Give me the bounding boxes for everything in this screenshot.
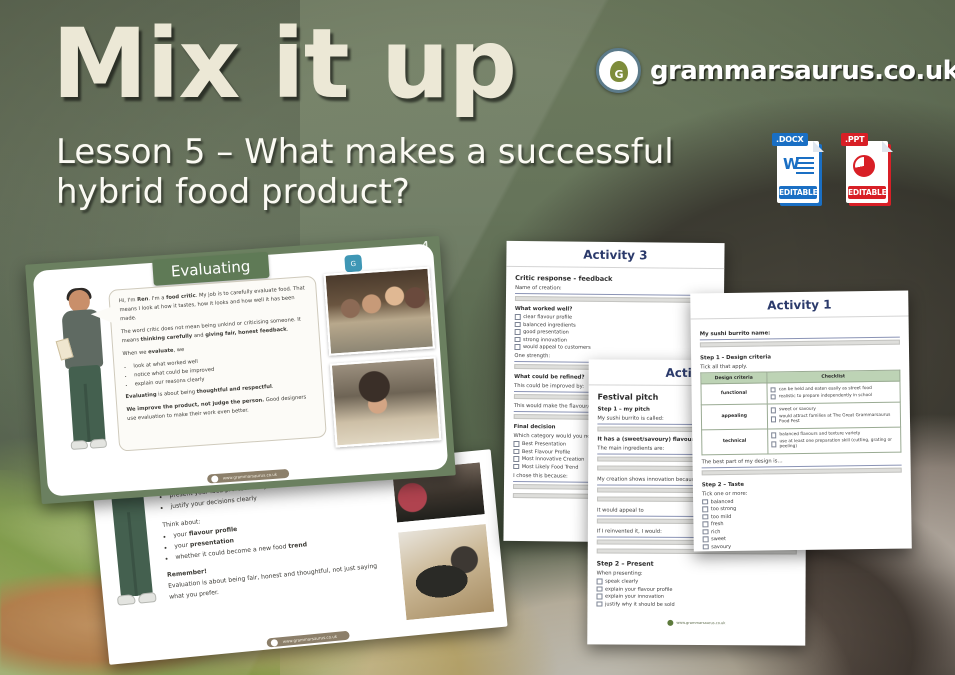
checkbox-icon[interactable]: [513, 464, 519, 470]
checkbox-icon[interactable]: [703, 544, 709, 550]
checkbox-criteria[interactable]: sweet or savoury: [770, 406, 896, 413]
design-criteria-table: Design criteria Checklist functional can…: [700, 370, 901, 455]
speech-bubble: Hi, I'm Ren. I'm a food critic. My job i…: [108, 276, 327, 452]
step-2-taste-label: Step 2 – Taste: [702, 479, 902, 488]
grammarsaurus-footer-icon: [667, 620, 673, 626]
worksheet-activity-1[interactable]: Activity 1 My sushi burrito name: Step 1…: [690, 290, 912, 551]
criteria-appealing: appealing: [701, 403, 767, 429]
checkbox-icon[interactable]: [702, 522, 708, 528]
checkbox-criteria[interactable]: would attract families at The Great Gram…: [771, 413, 897, 425]
checkbox-presenting[interactable]: speak clearly: [597, 578, 797, 585]
docx-ext-label: .DOCX: [772, 133, 808, 146]
svg-text:G: G: [350, 259, 356, 268]
checkbox-criteria[interactable]: can be held and eaten easily as street f…: [770, 385, 896, 392]
step-1-design-criteria-label: Step 1 – Design criteria: [700, 353, 900, 362]
checkbox-icon[interactable]: [770, 387, 776, 393]
grammarsaurus-icon: G: [596, 48, 641, 93]
name-of-creation-label: Name of creation:: [515, 285, 715, 293]
checkbox-criteria[interactable]: use at least one preparation skill (cutt…: [771, 438, 897, 450]
checkbox-icon[interactable]: [513, 441, 519, 447]
checkbox-icon[interactable]: [513, 456, 519, 462]
checkbox-icon[interactable]: [597, 586, 603, 592]
slide-card-evaluating[interactable]: 4 Evaluating G Hi, I'm Ren. I'm a food c…: [25, 236, 456, 504]
name-of-creation-input[interactable]: [515, 296, 715, 303]
page-subtitle: Lesson 5 – What makes a successful hybri…: [56, 132, 776, 212]
page-title: Mix it up: [52, 16, 516, 112]
ppt-editable-label: EDITABLE: [848, 186, 886, 199]
worksheet-footer: www.grammarsaurus.co.uk: [587, 615, 805, 631]
burrito-name-input[interactable]: [700, 340, 900, 348]
svg-text:G: G: [614, 68, 623, 81]
checkbox-presenting[interactable]: explain your flavour profile: [597, 586, 797, 593]
ppt-badge: .PPT EDITABLE: [841, 133, 893, 205]
checkbox-criteria[interactable]: balanced flavours and texture variety: [771, 431, 897, 438]
photo-teen-eating: [330, 356, 442, 447]
photo-food-stall-customers: [324, 267, 435, 356]
checkbox-icon[interactable]: [771, 442, 777, 448]
best-part-input[interactable]: [702, 467, 902, 475]
checkbox-icon[interactable]: [702, 507, 708, 513]
table-row: technical balanced flavours and texture …: [702, 427, 901, 455]
critic-response-heading: Critic response - feedback: [515, 274, 715, 284]
checkbox-icon[interactable]: [770, 394, 776, 400]
checklist-appealing: sweet or savoury would attract families …: [767, 402, 901, 429]
checkbox-icon[interactable]: [515, 329, 521, 335]
table-row: appealing sweet or savoury would attract…: [701, 402, 900, 430]
brand-logo: G grammarsaurus.co.uk: [596, 48, 955, 93]
when-presenting-label: When presenting:: [597, 570, 797, 577]
checkbox-presenting[interactable]: explain your innovation: [596, 593, 796, 600]
worksheet-title: Activity 1: [690, 290, 908, 319]
brand-text: grammarsaurus.co.uk: [650, 56, 955, 86]
what-worked-well-label: What worked well?: [515, 306, 715, 314]
character-illustration-lower: [104, 482, 166, 636]
checklist-technical: balanced flavours and texture variety us…: [767, 427, 901, 454]
checkbox-icon[interactable]: [513, 449, 519, 455]
checkbox-presenting[interactable]: justify why it should be sold: [596, 601, 796, 608]
checkbox-icon[interactable]: [515, 337, 521, 343]
checklist-functional: can be held and eaten easily as street f…: [767, 381, 901, 403]
docx-editable-label: EDITABLE: [779, 186, 817, 199]
checkbox-icon[interactable]: [597, 579, 603, 585]
checkbox-icon[interactable]: [703, 529, 709, 535]
criteria-technical: technical: [702, 428, 768, 454]
checkbox-icon[interactable]: [771, 417, 777, 423]
checkbox-icon[interactable]: [703, 537, 709, 543]
docx-badge: W .DOCX EDITABLE: [772, 133, 824, 205]
file-format-badges: W .DOCX EDITABLE .PPT EDITABLE: [772, 133, 893, 205]
checkbox-icon[interactable]: [770, 407, 776, 413]
docx-lines-icon: [796, 157, 814, 177]
photo-sushi-burrito: [396, 522, 496, 622]
checkbox-taste[interactable]: savoury: [703, 541, 903, 550]
checkbox-worked-well[interactable]: would appeal to customers: [514, 344, 714, 352]
grammarsaurus-mini-icon: G: [344, 254, 362, 272]
checkbox-icon[interactable]: [515, 314, 521, 320]
ppt-ext-label: .PPT: [841, 133, 868, 146]
step-2-label: Step 2 – Present: [597, 560, 797, 568]
checkbox-icon[interactable]: [771, 432, 777, 438]
speech-tail: [90, 307, 112, 324]
poster-canvas: Mix it up Lesson 5 – What makes a succes…: [0, 0, 955, 675]
criteria-functional: functional: [701, 383, 767, 404]
checkbox-icon[interactable]: [596, 594, 602, 600]
checkbox-icon[interactable]: [514, 344, 520, 350]
checkbox-icon[interactable]: [596, 601, 602, 607]
checkbox-icon[interactable]: [702, 514, 708, 520]
worksheet-title: Activity 3: [506, 241, 724, 269]
table-row: functional can be held and eaten easily …: [701, 381, 900, 404]
table-header-criteria: Design criteria: [701, 372, 767, 384]
checkbox-icon[interactable]: [515, 322, 521, 328]
pie-chart-icon: [853, 155, 875, 177]
checkbox-criteria[interactable]: realistic to prepare independently in sc…: [770, 392, 896, 399]
checkbox-icon[interactable]: [702, 499, 708, 505]
slide-footer: www.grammarsaurus.co.uk: [206, 469, 289, 484]
